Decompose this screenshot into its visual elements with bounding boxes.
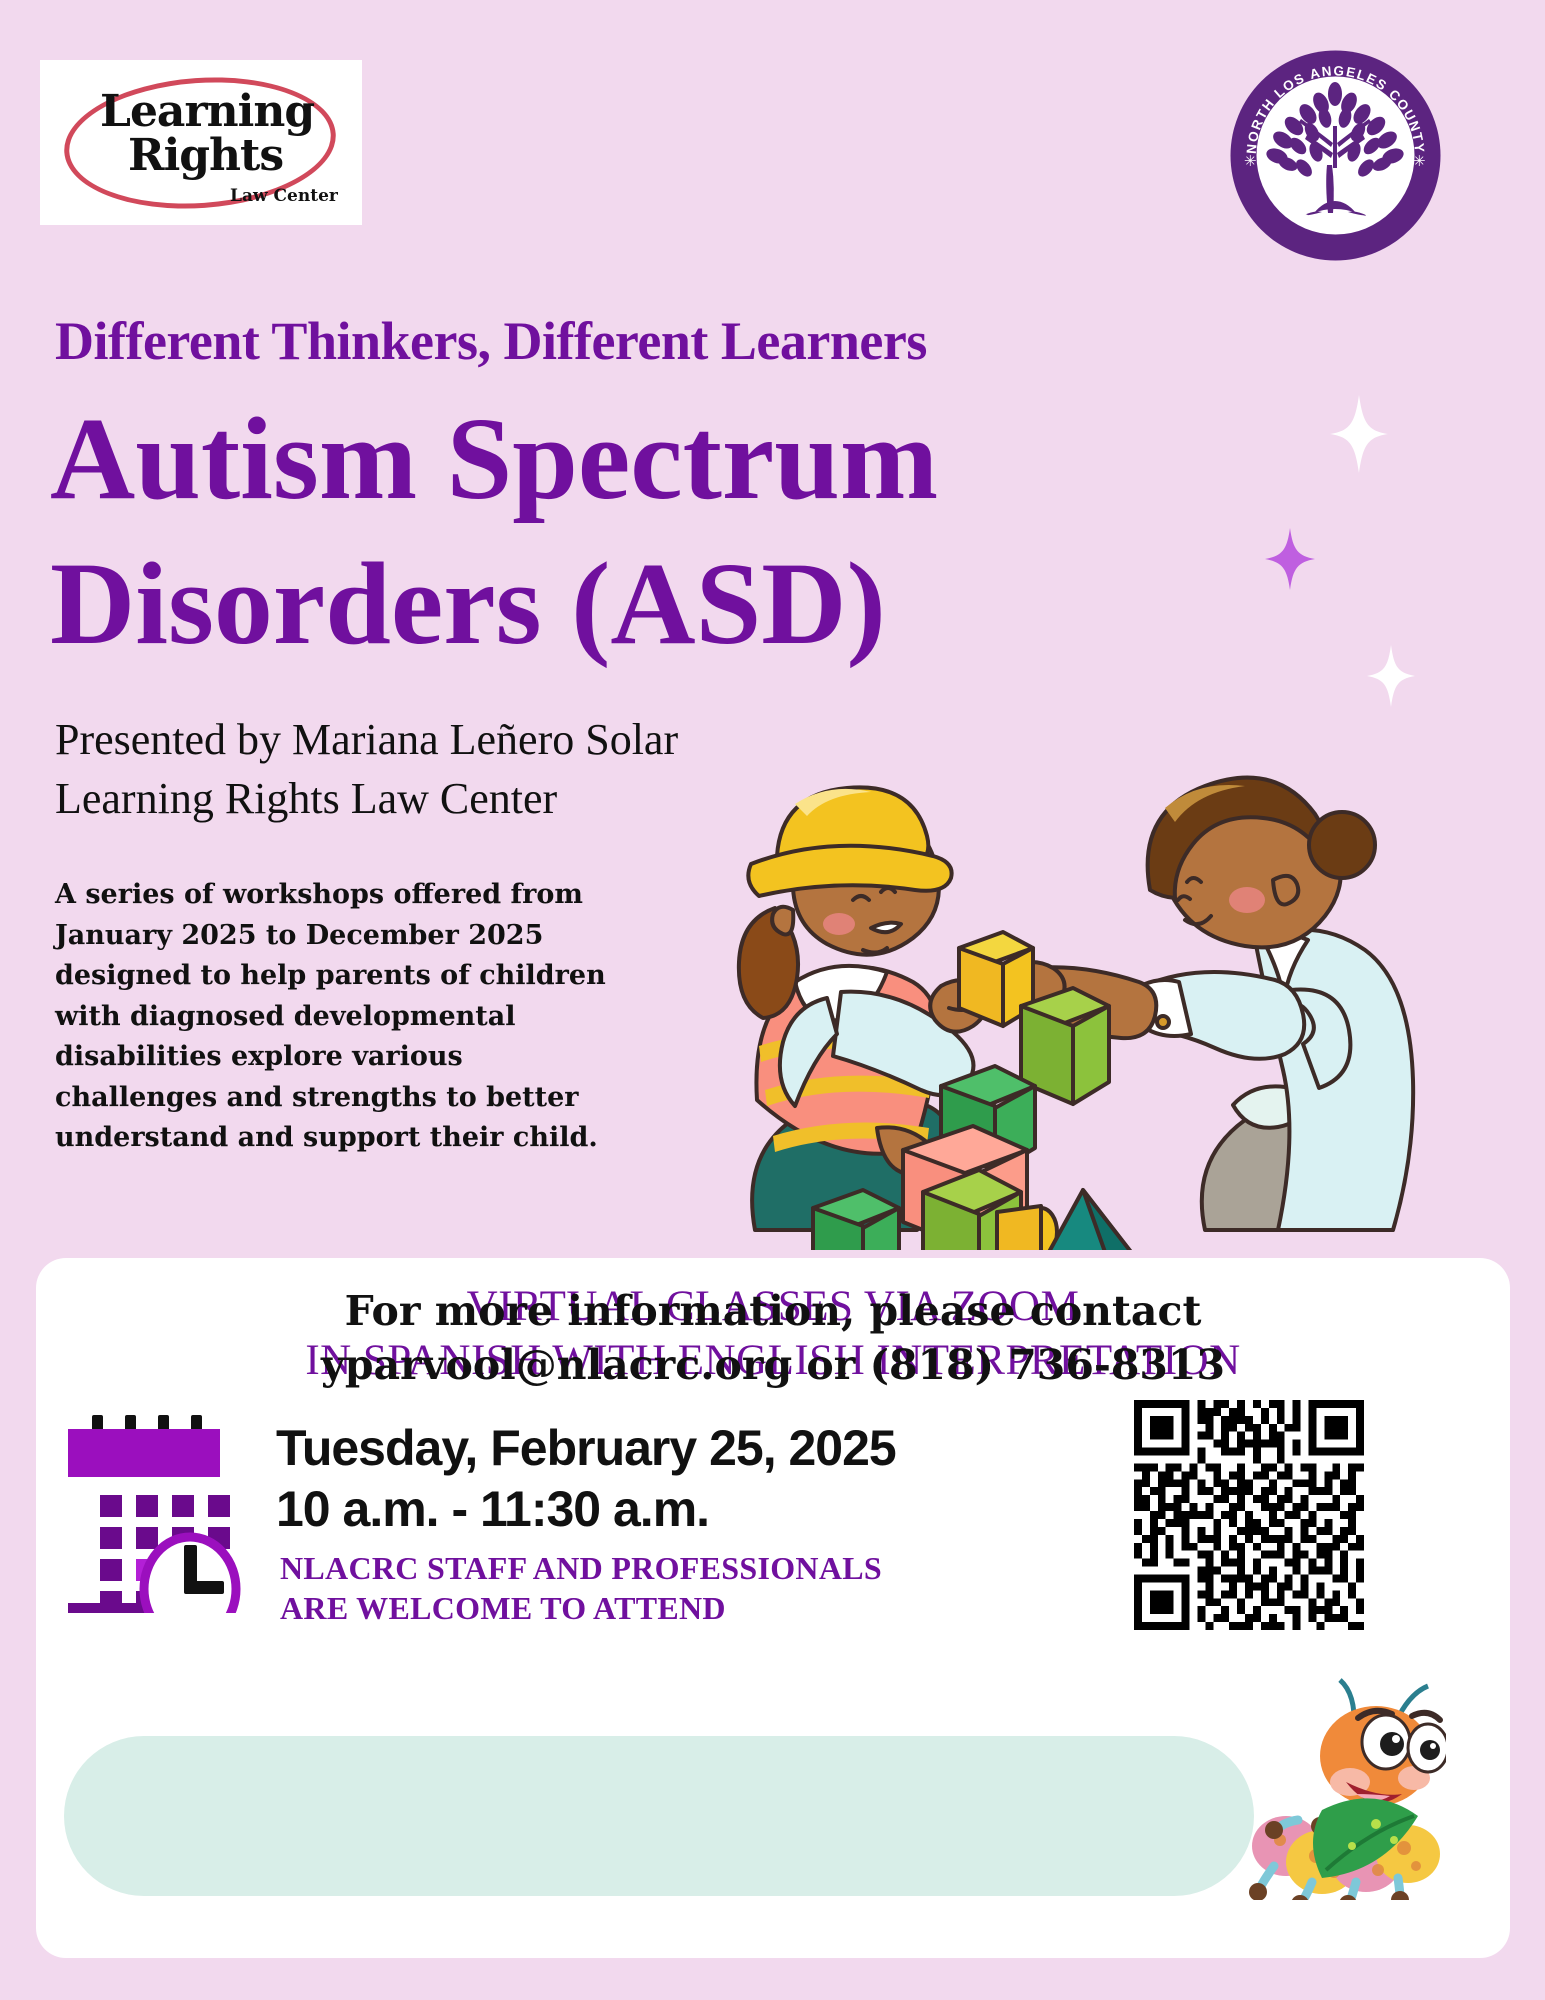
presenter-block: Presented by Mariana Leñero Solar Learni…: [55, 710, 678, 829]
learning-rights-logo: Learning Rights Law Center: [40, 60, 362, 225]
blocks-play-illustration-icon: [735, 760, 1435, 1250]
description-paragraph: A series of workshops offered from Janua…: [55, 875, 625, 1159]
page-title-line-2: Disorders (ASD): [50, 545, 886, 663]
presenter-name: Presented by Mariana Leñero Solar: [55, 710, 678, 769]
contact-line-1: For more information, please contact: [36, 1284, 1510, 1338]
logo-line-1: Learning: [100, 90, 314, 134]
logo-line-2: Rights: [128, 134, 283, 178]
nlacrc-logo: NORTH LOS ANGELES COUNTY REGIONAL CENTER…: [1228, 48, 1443, 263]
star-right-icon: ✳: [1413, 154, 1426, 170]
calendar-clock-icon: [62, 1413, 262, 1613]
sparkle-icon: [1367, 645, 1415, 707]
nlacrc-seal-icon: NORTH LOS ANGELES COUNTY REGIONAL CENTER…: [1228, 48, 1443, 263]
contact-band: [64, 1736, 1254, 1896]
sparkle-icon: [1330, 395, 1388, 473]
sparkle-icon: [1265, 528, 1315, 590]
staff-note-line-2: ARE WELCOME TO ATTEND: [280, 1588, 882, 1628]
contact-line-2[interactable]: yparvool@nlacrc.org or (818) 736-8313: [36, 1338, 1510, 1392]
qr-code[interactable]: [1134, 1400, 1364, 1630]
kicker-heading: Different Thinkers, Different Learners: [55, 310, 927, 372]
illustration-adult-and-child: [735, 760, 1435, 1250]
staff-note-line-1: NLACRC STAFF AND PROFESSIONALS: [280, 1548, 882, 1588]
event-date: Tuesday, February 25, 2025: [276, 1418, 896, 1479]
page-title-line-1: Autism Spectrum: [50, 400, 938, 518]
event-datetime: Tuesday, February 25, 2025 10 a.m. - 11:…: [276, 1418, 896, 1540]
event-time: 10 a.m. - 11:30 a.m.: [276, 1479, 896, 1540]
caterpillar-with-leaf-icon: [1226, 1670, 1446, 1900]
flyer-page: Learning Rights Law Center: [0, 0, 1545, 2000]
contact-text: For more information, please contact ypa…: [36, 1284, 1510, 1392]
info-card: VIRTUAL CLASSES VIA ZOOM IN SPANISH WITH…: [36, 1258, 1510, 1958]
logo-line-3: Law Center: [230, 188, 338, 205]
staff-note: NLACRC STAFF AND PROFESSIONALS ARE WELCO…: [280, 1548, 882, 1628]
star-left-icon: ✳: [1244, 154, 1257, 170]
presenter-org: Learning Rights Law Center: [55, 769, 678, 828]
